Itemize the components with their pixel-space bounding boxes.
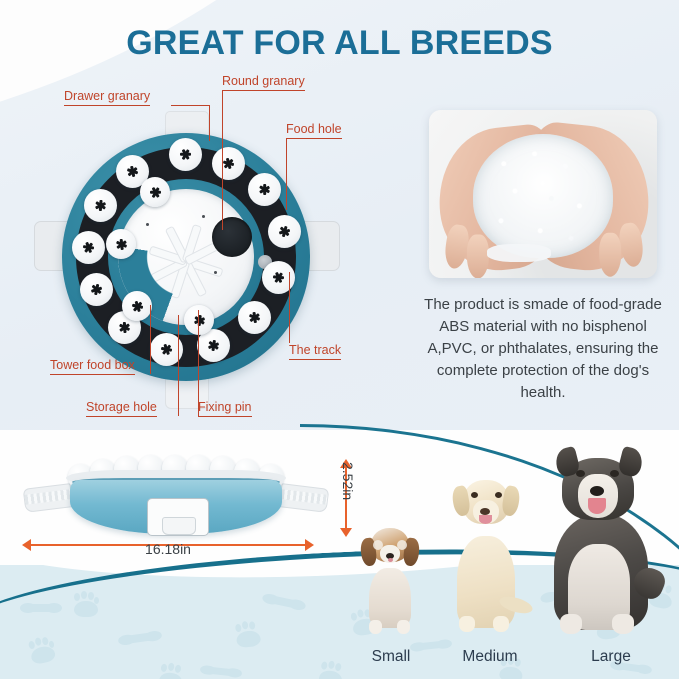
paw-icon <box>158 662 184 679</box>
product-knob <box>80 273 113 306</box>
width-dimension-label: 16.18in <box>22 541 314 557</box>
page-title: GREAT FOR ALL BREEDS <box>0 24 679 63</box>
leader-line-drawer-granary-v <box>209 105 210 141</box>
product-knob <box>72 231 105 264</box>
callout-drawer-granary: Drawer granary <box>64 89 150 106</box>
product-knob <box>122 291 152 321</box>
product-knob <box>212 147 245 180</box>
dog-large-malamute <box>538 452 666 640</box>
callout-storage-hole: Storage hole <box>86 400 157 417</box>
leader-line-drawer-granary <box>171 105 209 106</box>
product-side-handle-left <box>23 483 74 513</box>
product-side-drawer <box>147 498 209 536</box>
dog-small-beagle <box>355 528 427 636</box>
callout-round-granary: Round granary <box>222 74 305 91</box>
product-knob <box>84 189 117 222</box>
leader-line-round-granary <box>222 90 223 230</box>
leader-line-fixing-pin <box>198 310 199 416</box>
dog-size-label-small: Small <box>346 648 436 666</box>
material-description: The product is smade of food-grade ABS m… <box>418 294 668 404</box>
material-photo <box>429 110 657 278</box>
abs-pellet-pile <box>473 134 613 258</box>
dog-size-label-medium: Medium <box>443 648 537 666</box>
product-knob <box>140 177 170 207</box>
product-side-handle-right <box>279 483 330 513</box>
dog-medium-labrador <box>443 478 537 636</box>
infographic-canvas: GREAT FOR ALL BREEDS <box>0 0 679 679</box>
callout-tower-food-box: Tower food box <box>50 358 135 375</box>
bone-icon <box>199 659 243 679</box>
product-knob <box>248 173 281 206</box>
product-knob <box>268 215 301 248</box>
product-knob <box>106 229 136 259</box>
product-top-view <box>62 133 310 381</box>
callout-the-track: The track <box>289 343 341 360</box>
leader-line-food-hole <box>286 138 287 210</box>
product-side-view <box>16 452 334 544</box>
callout-food-hole: Food hole <box>286 122 342 139</box>
leader-line-the-track <box>289 272 290 343</box>
leader-line-tower-food-box <box>150 305 151 374</box>
callout-fixing-pin: Fixing pin <box>198 400 252 417</box>
height-dimension-label: 2.52in <box>340 462 356 534</box>
product-knob <box>169 138 202 171</box>
product-knob <box>238 301 271 334</box>
leader-line-storage-hole <box>178 315 179 416</box>
dog-size-label-large: Large <box>566 648 656 666</box>
